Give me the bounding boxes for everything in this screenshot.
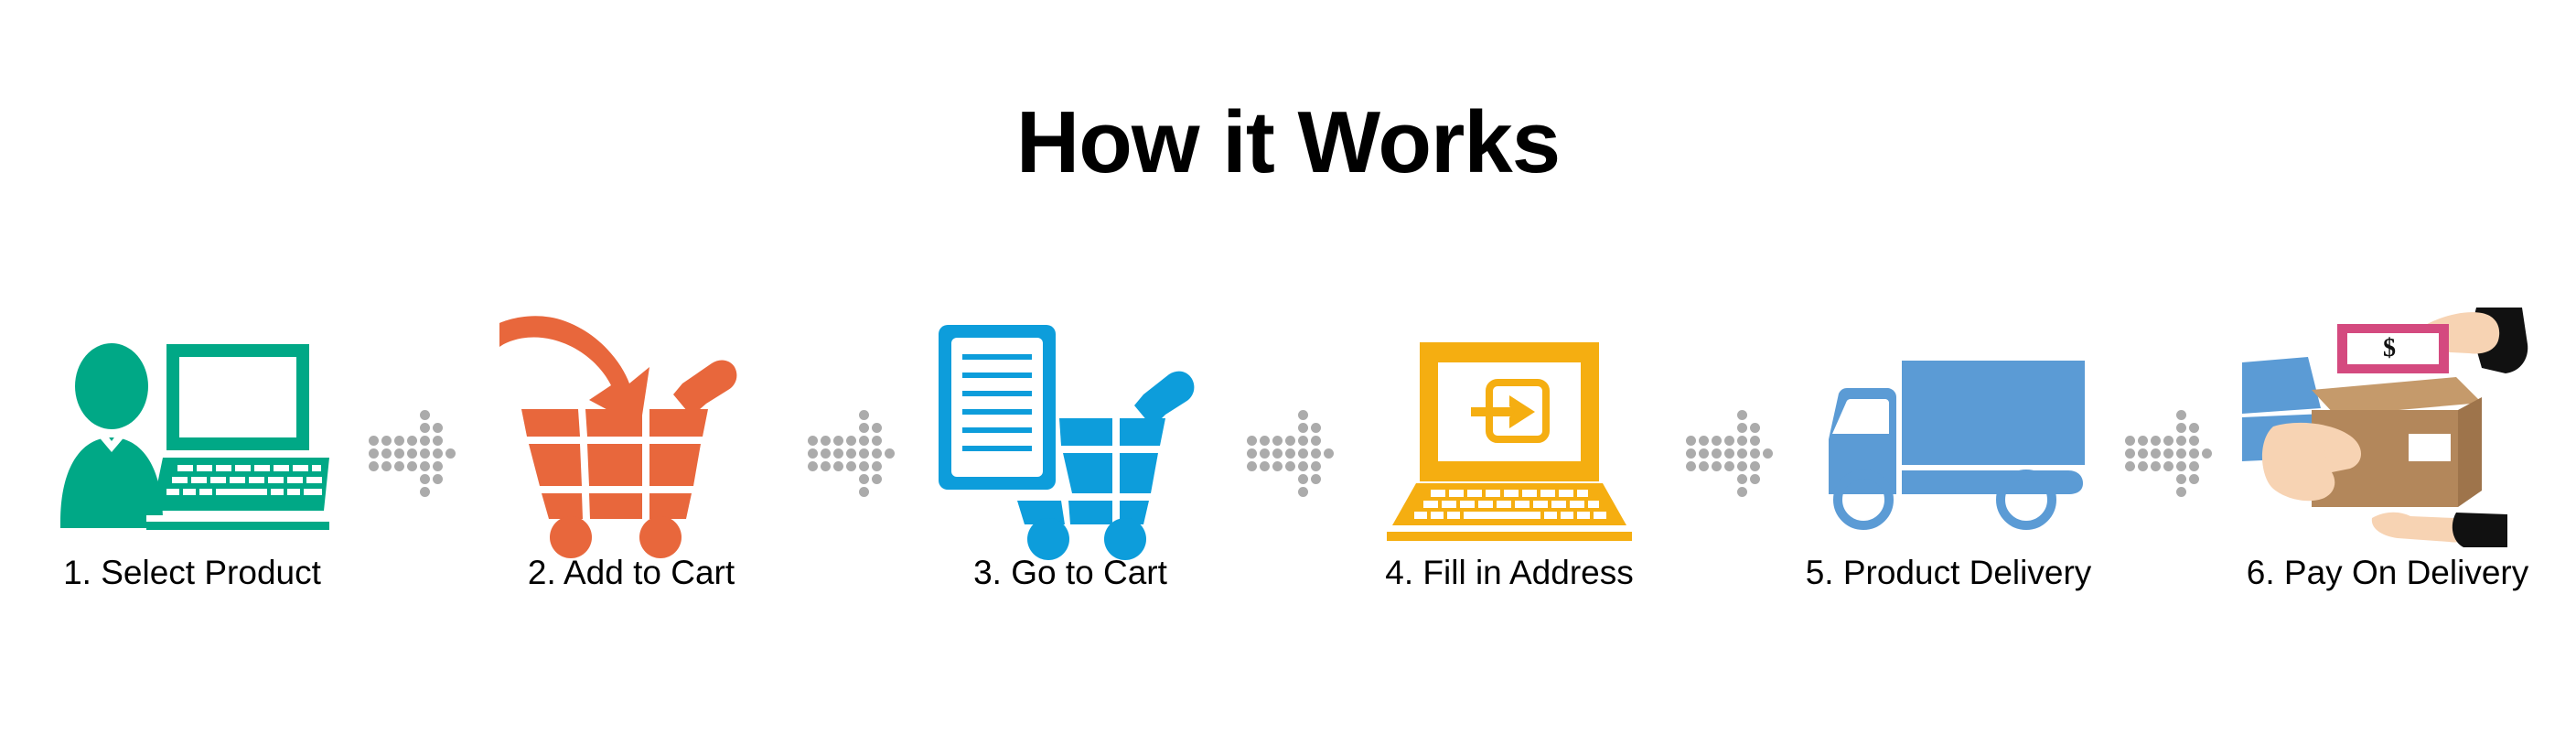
sleeve-blue-upper-icon <box>2242 357 2321 414</box>
dotted-arrow-dots <box>369 410 455 487</box>
dotted-arrow-dots <box>808 410 894 487</box>
step-2-label: 2. Add to Cart <box>528 555 735 592</box>
step-4-icon-area <box>1354 302 1665 549</box>
step-5-label: 5. Product Delivery <box>1806 555 2092 592</box>
step-2-icon-area <box>476 302 787 549</box>
step-4-fill-in-address: 4. Fill in Address <box>1354 302 1665 668</box>
banknote-dollar-symbol: $ <box>2383 334 2396 362</box>
dotted-arrow-1 <box>368 302 456 668</box>
dotted-arrow-dots <box>2125 410 2211 487</box>
dotted-arrow-2 <box>807 302 895 668</box>
dotted-arrow-dots <box>1686 410 1772 487</box>
step-4-label: 4. Fill in Address <box>1385 555 1633 592</box>
delivery-truck-icon <box>1807 357 2090 549</box>
step-1-icon-area <box>37 302 348 549</box>
box-side-face <box>2458 397 2482 507</box>
step-6-icon-area: $ <box>2232 302 2543 549</box>
step-1-label: 1. Select Product <box>63 555 321 592</box>
step-3-go-to-cart: 3. Go to Cart <box>915 302 1226 668</box>
cart-with-arrow-icon <box>494 307 768 549</box>
dotted-arrow-5 <box>2124 302 2212 668</box>
steps-row: 1. Select Product <box>37 302 2543 668</box>
document-with-cart-icon <box>933 307 1207 549</box>
hands-exchanging-box-and-cash-icon: $ <box>2237 302 2538 549</box>
laptop-login-icon <box>1372 339 1647 549</box>
box-label <box>2409 434 2451 461</box>
step-5-product-delivery: 5. Product Delivery <box>1793 302 2104 668</box>
sleeve-lower-icon <box>2453 513 2507 547</box>
step-3-label: 3. Go to Cart <box>973 555 1167 592</box>
step-6-label: 6. Pay On Delivery <box>2247 555 2528 592</box>
step-2-add-to-cart: 2. Add to Cart <box>476 302 787 668</box>
person-with-laptop-icon <box>55 339 329 549</box>
page-title: How it Works <box>0 99 2576 187</box>
how-it-works-infographic: How it Works <box>0 0 2576 745</box>
step-6-pay-on-delivery: $ <box>2232 302 2543 668</box>
dotted-arrow-dots <box>1247 410 1333 487</box>
step-5-icon-area <box>1793 302 2104 549</box>
step-1-select-product: 1. Select Product <box>37 302 348 668</box>
banknote-icon: $ <box>2337 324 2449 373</box>
dotted-arrow-4 <box>1685 302 1773 668</box>
box-top-face <box>2312 377 2482 416</box>
step-3-icon-area <box>915 302 1226 549</box>
dotted-arrow-3 <box>1246 302 1334 668</box>
